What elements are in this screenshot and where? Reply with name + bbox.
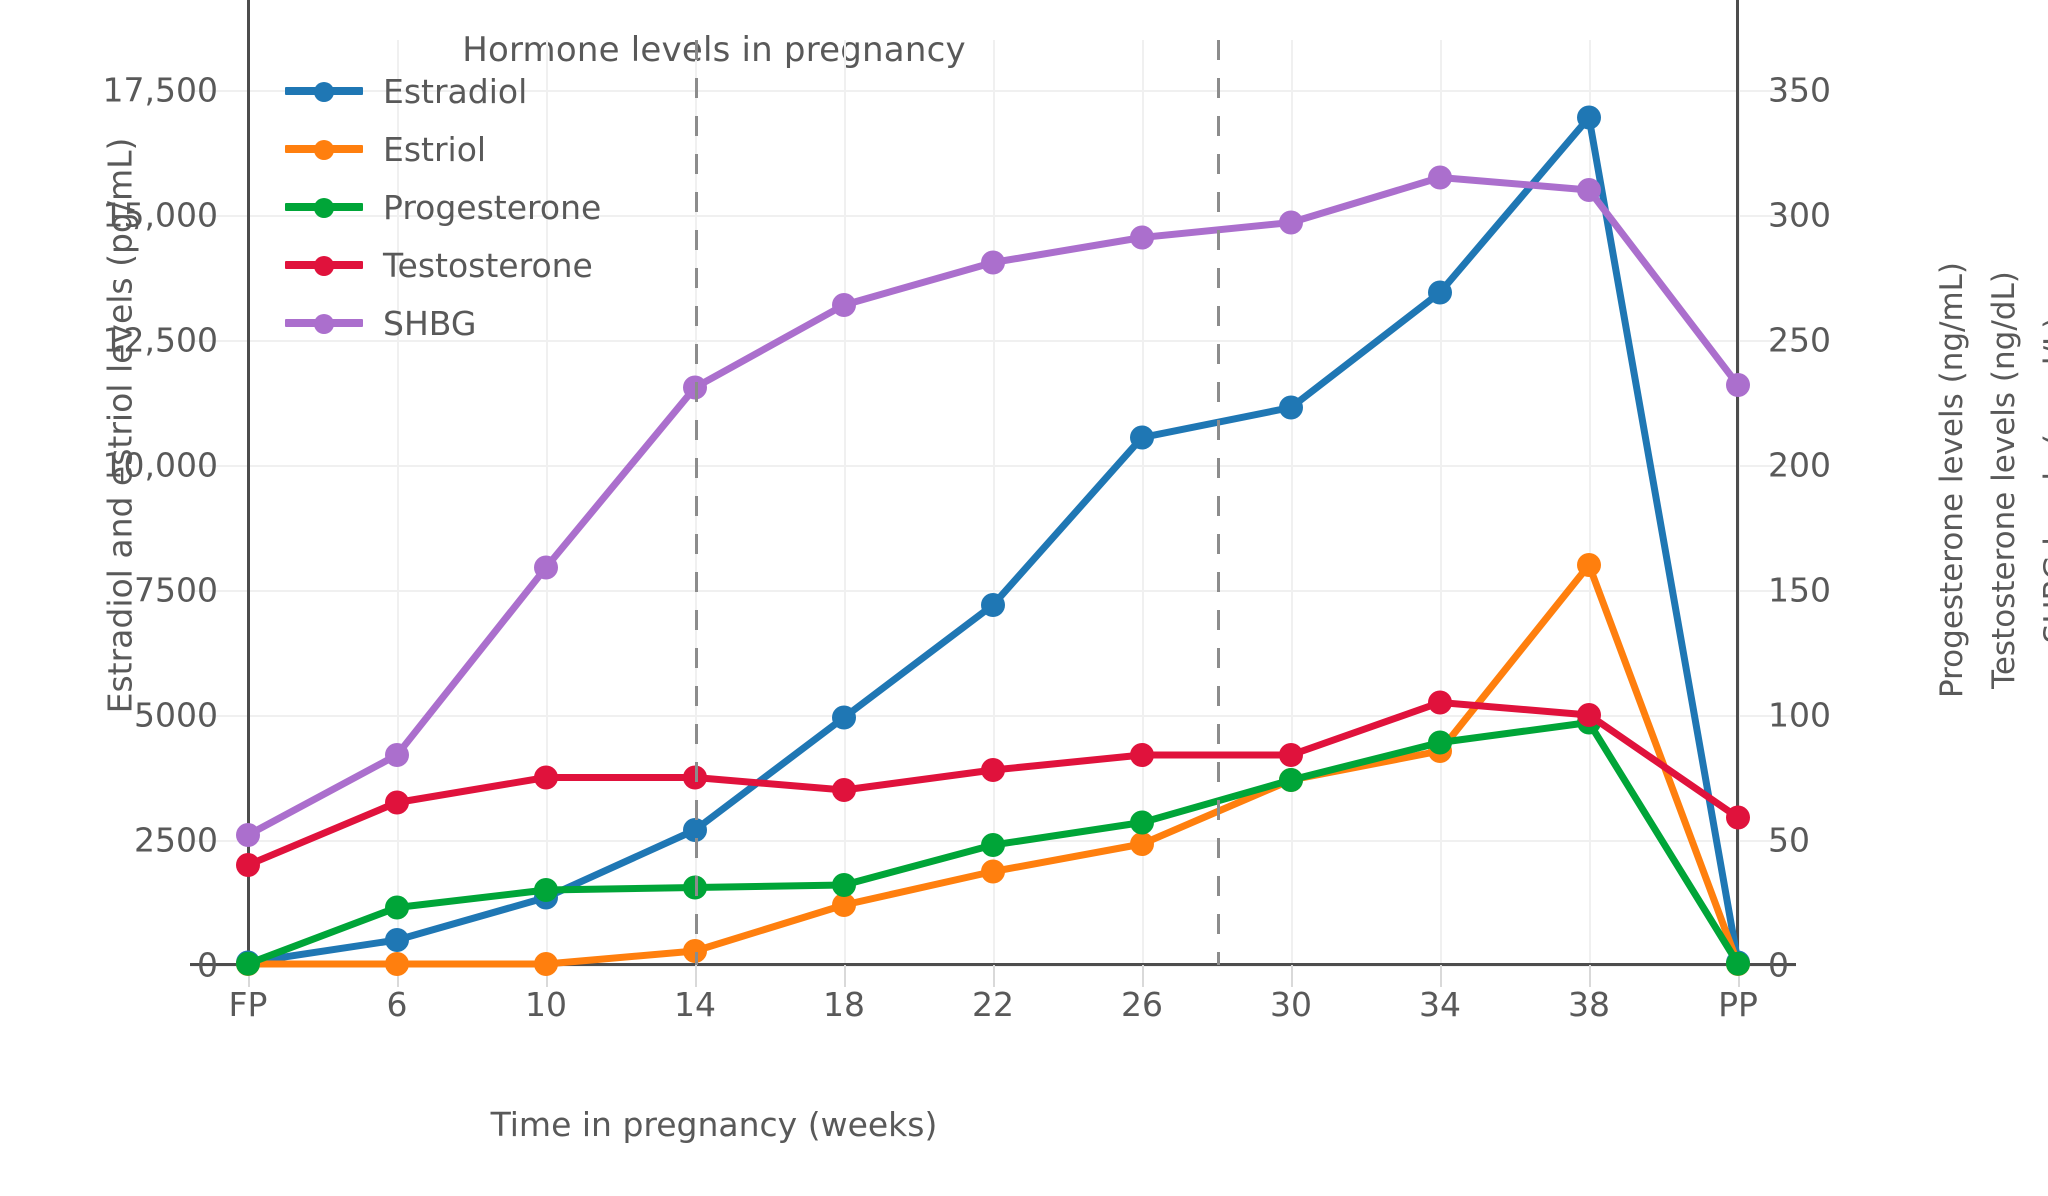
x-tick-label: 38 xyxy=(1509,985,1669,1024)
y-tick-label-left: 2500 xyxy=(0,821,218,860)
x-tick-label: PP xyxy=(1658,985,1818,1024)
y-tick-label-left: 0 xyxy=(0,946,218,985)
data-point[interactable] xyxy=(1577,703,1601,727)
x-tick-mark xyxy=(993,965,995,987)
data-point[interactable] xyxy=(385,743,409,767)
data-point[interactable] xyxy=(1428,166,1452,190)
data-point[interactable] xyxy=(832,293,856,317)
legend-swatch-icon xyxy=(285,194,363,220)
x-tick-mark xyxy=(1440,965,1442,987)
data-point[interactable] xyxy=(981,251,1005,275)
data-point[interactable] xyxy=(1428,691,1452,715)
legend-item-estriol[interactable]: Estriol xyxy=(285,120,715,178)
legend-swatch-icon xyxy=(285,252,363,278)
x-tick-mark xyxy=(1291,965,1293,987)
data-point[interactable] xyxy=(236,823,260,847)
data-point[interactable] xyxy=(534,766,558,790)
x-tick-label: 14 xyxy=(615,985,775,1024)
legend-item-shbg[interactable]: SHBG xyxy=(285,294,715,352)
data-point[interactable] xyxy=(1279,396,1303,420)
y-axis-right-label-shbg: SHBG levels (nmol/L) xyxy=(2038,150,2048,810)
data-point[interactable] xyxy=(981,833,1005,857)
y-tick-label-left: 12,500 xyxy=(0,321,218,360)
x-tick-mark xyxy=(1589,965,1591,987)
y-tick-label-left: 17,500 xyxy=(0,71,218,110)
data-point[interactable] xyxy=(1130,811,1154,835)
y-tick-label-left: 7500 xyxy=(0,571,218,610)
data-point[interactable] xyxy=(385,952,409,976)
y-tick-label-right: 350 xyxy=(1768,71,1968,110)
data-point[interactable] xyxy=(1279,768,1303,792)
legend-label: Testosterone xyxy=(383,246,593,285)
chart-legend[interactable]: EstradiolEstriolProgesteroneTestosterone… xyxy=(285,62,715,352)
legend-label: SHBG xyxy=(383,304,476,343)
legend-label: Progesterone xyxy=(383,188,601,227)
x-tick-label: 10 xyxy=(466,985,626,1024)
data-point[interactable] xyxy=(1726,373,1750,397)
x-tick-mark xyxy=(844,965,846,987)
data-point[interactable] xyxy=(981,860,1005,884)
data-point[interactable] xyxy=(832,706,856,730)
x-tick-label: 26 xyxy=(1062,985,1222,1024)
y-tick-label-left: 5000 xyxy=(0,696,218,735)
y-tick-label-right: 150 xyxy=(1768,571,1968,610)
data-point[interactable] xyxy=(981,593,1005,617)
trimester-divider-2 xyxy=(1217,40,1220,965)
data-point[interactable] xyxy=(385,896,409,920)
data-point[interactable] xyxy=(981,758,1005,782)
data-point[interactable] xyxy=(534,952,558,976)
data-point[interactable] xyxy=(1130,832,1154,856)
x-tick-label: 34 xyxy=(1360,985,1520,1024)
data-point[interactable] xyxy=(832,873,856,897)
y-tick-label-left: 10,000 xyxy=(0,446,218,485)
legend-swatch-icon xyxy=(285,310,363,336)
y-tick-label-right: 200 xyxy=(1768,446,1968,485)
legend-swatch-icon xyxy=(285,78,363,104)
y-axis-left-label: Estradiol and estriol levels (pg/mL) xyxy=(101,76,140,776)
y-tick-label-right: 0 xyxy=(1768,946,1968,985)
x-tick-label: 6 xyxy=(317,985,477,1024)
legend-item-testosterone[interactable]: Testosterone xyxy=(285,236,715,294)
x-tick-mark xyxy=(1142,965,1144,987)
data-point[interactable] xyxy=(1428,731,1452,755)
data-point[interactable] xyxy=(534,556,558,580)
x-tick-label: 30 xyxy=(1211,985,1371,1024)
data-point[interactable] xyxy=(1726,806,1750,830)
data-point[interactable] xyxy=(1279,211,1303,235)
data-point[interactable] xyxy=(385,928,409,952)
y-tick-label-right: 250 xyxy=(1768,321,1968,360)
data-point[interactable] xyxy=(1577,178,1601,202)
data-point[interactable] xyxy=(1577,106,1601,130)
y-tick-label-right: 300 xyxy=(1768,196,1968,235)
data-point[interactable] xyxy=(1130,743,1154,767)
data-point[interactable] xyxy=(832,778,856,802)
x-tick-label: 22 xyxy=(913,985,1073,1024)
legend-label: Estradiol xyxy=(383,72,527,111)
data-point[interactable] xyxy=(236,952,260,976)
legend-item-estradiol[interactable]: Estradiol xyxy=(285,62,715,120)
data-point[interactable] xyxy=(1726,952,1750,976)
data-point[interactable] xyxy=(1130,426,1154,450)
y-tick-label-right: 100 xyxy=(1768,696,1968,735)
x-tick-label: FP xyxy=(168,985,328,1024)
data-point[interactable] xyxy=(1577,553,1601,577)
data-point[interactable] xyxy=(1279,743,1303,767)
x-tick-label: 18 xyxy=(764,985,924,1024)
y-tick-label-left: 15,000 xyxy=(0,196,218,235)
chart-root: Hormone levels in pregnancy Estradiol an… xyxy=(0,0,2048,1196)
data-point[interactable] xyxy=(534,878,558,902)
x-tick-mark xyxy=(695,965,697,987)
y-axis-right-label-testosterone: Testosterone levels (ng/dL) xyxy=(1986,150,2022,810)
y-tick-label-right: 50 xyxy=(1768,821,1968,860)
legend-swatch-icon xyxy=(285,136,363,162)
legend-label: Estriol xyxy=(383,130,486,169)
data-point[interactable] xyxy=(1428,281,1452,305)
data-point[interactable] xyxy=(236,853,260,877)
legend-item-progesterone[interactable]: Progesterone xyxy=(285,178,715,236)
data-point[interactable] xyxy=(385,791,409,815)
data-point[interactable] xyxy=(1130,226,1154,250)
x-axis-label: Time in pregnancy (weeks) xyxy=(0,1105,1738,1144)
